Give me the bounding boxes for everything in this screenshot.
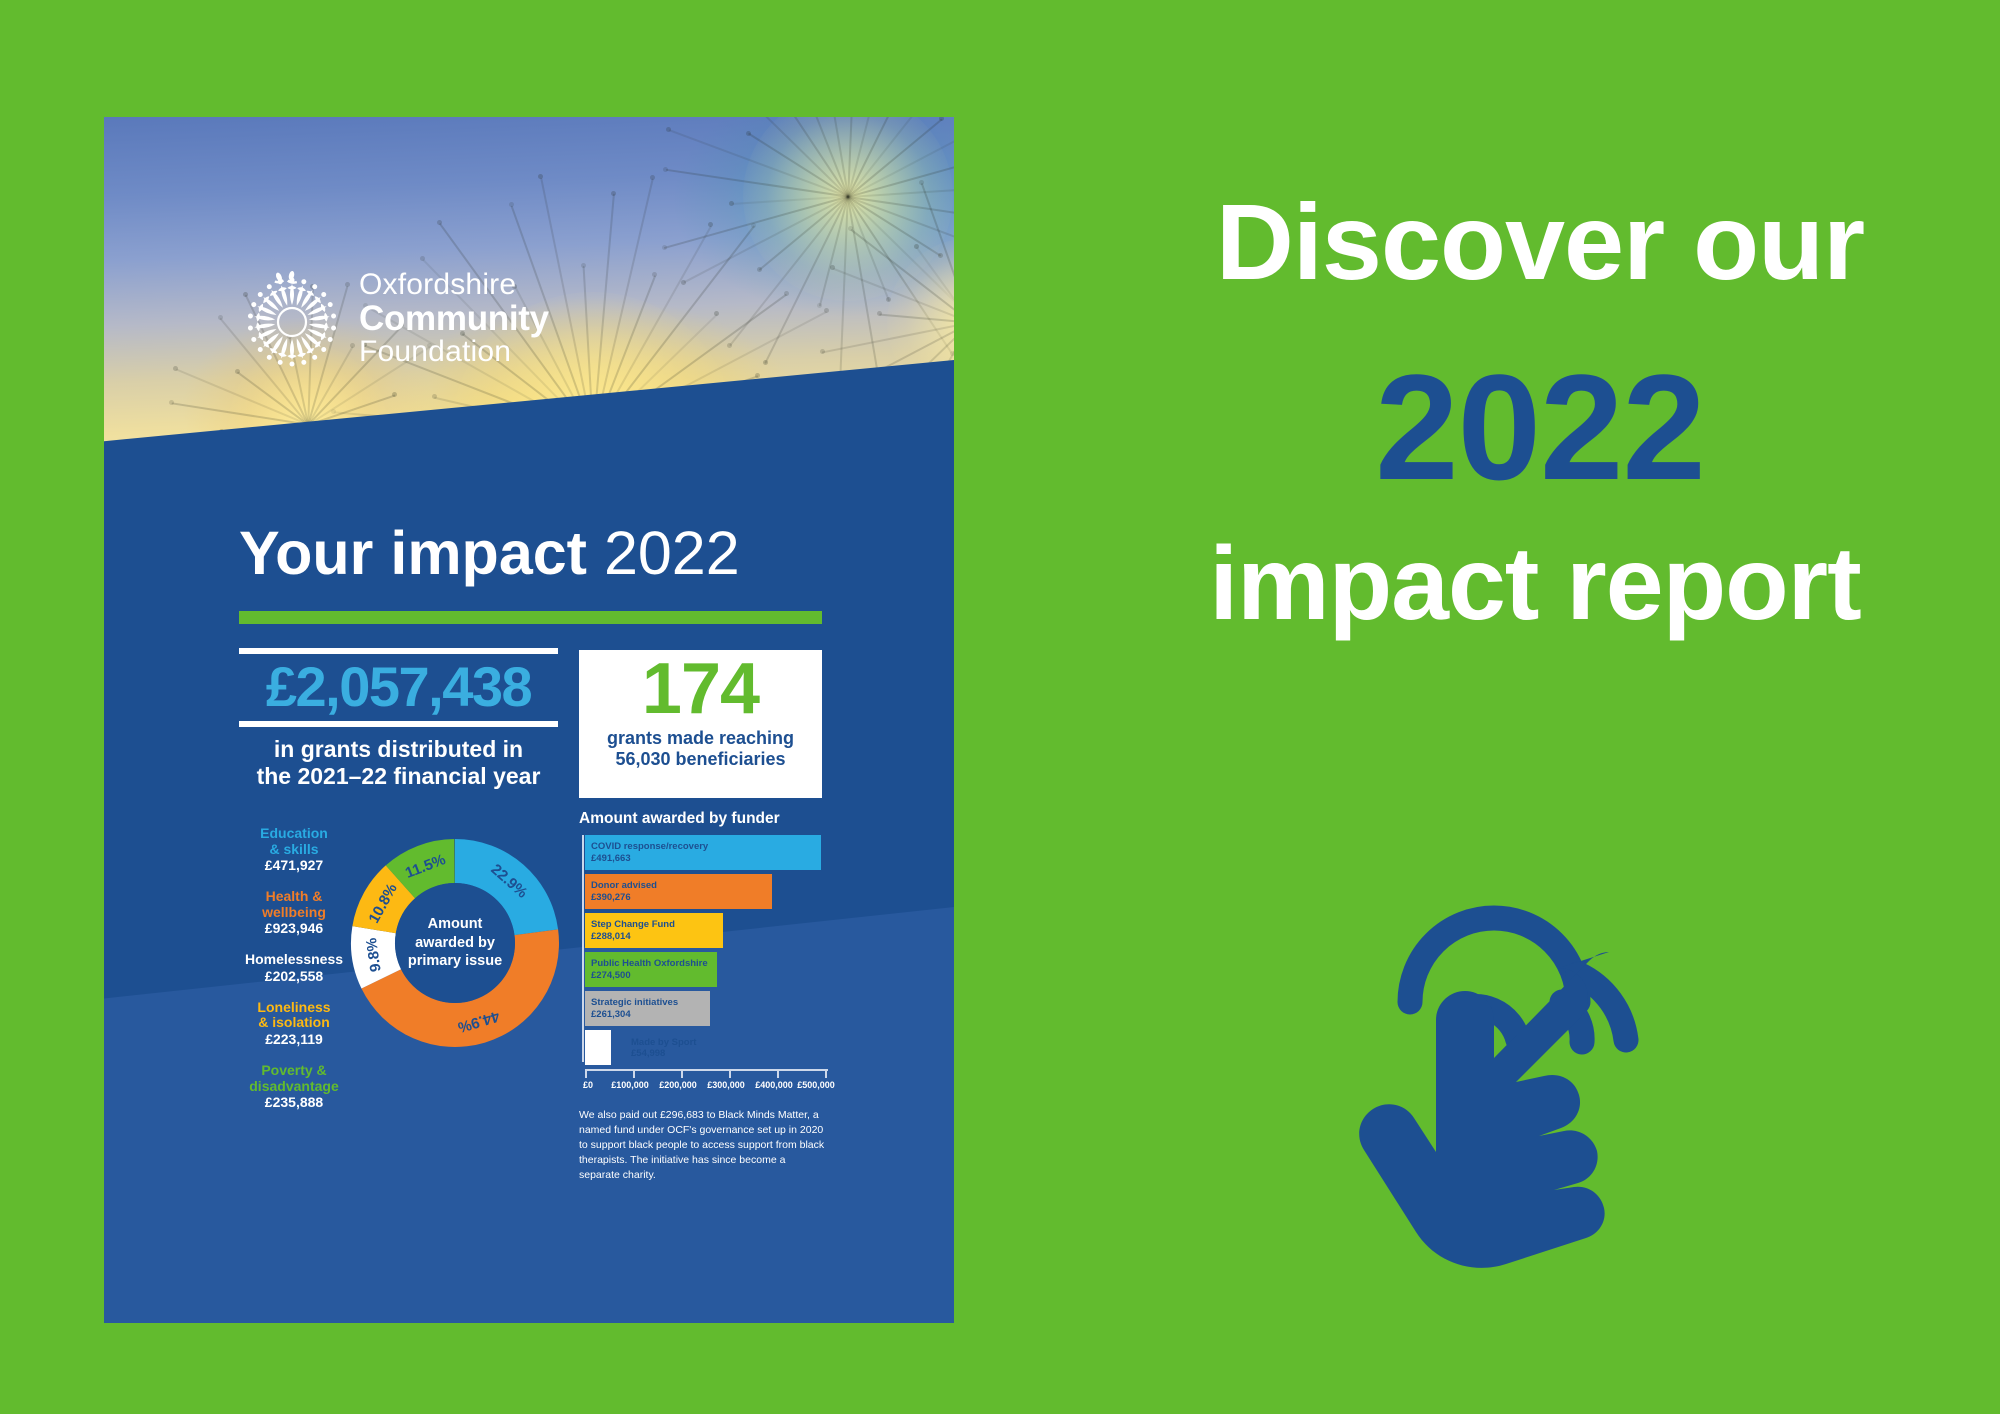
logo-line-2: Community <box>359 301 549 336</box>
funder-bar-chart: Amount awarded by funder COVID response/… <box>579 810 829 1183</box>
legend-item: Poverty &disadvantage£235,888 <box>230 1063 358 1111</box>
money-bottom-rule <box>239 721 558 727</box>
donut-center-line1: Amount <box>399 915 511 934</box>
grants-total-block: £2,057,438 in grants distributed in the … <box>239 648 558 790</box>
bar-chart-x-tick-labels: £0£100,000£200,000£300,000£400,000£500,0… <box>582 1080 829 1096</box>
donut-center-line3: primary issue <box>399 952 511 971</box>
poster-headline: Your impact 2022 <box>239 523 740 584</box>
bar-value: £274,500 <box>591 970 717 981</box>
ocf-logo-text: Oxfordshire Community Foundation <box>359 270 549 367</box>
pie-chart-legend: Education& skills£471,927Health &wellbei… <box>230 826 358 1126</box>
donut-center-line2: awarded by <box>399 934 511 953</box>
legend-amount: £235,888 <box>230 1094 358 1111</box>
bar-item: Public Health Oxfordshire£274,500 <box>585 952 717 987</box>
grants-count-caption-line2: 56,030 beneficiaries <box>579 749 822 770</box>
logo-line-3: Foundation <box>359 337 549 367</box>
cta-line-3: impact report <box>1070 532 2000 636</box>
bar-value: £390,276 <box>591 892 772 903</box>
bar-chart-title: Amount awarded by funder <box>579 810 829 828</box>
bar-label: Made by Sport <box>631 1036 696 1047</box>
legend-label-line2: disadvantage <box>230 1079 358 1095</box>
legend-label-line1: Health & <box>230 889 358 905</box>
bar-value: £491,663 <box>591 853 821 864</box>
logo-line-1: Oxfordshire <box>359 270 549 300</box>
bar-label: Strategic initiatives <box>591 997 710 1008</box>
bar-item: Donor advised£390,276 <box>585 874 772 909</box>
bar-item: Made by Sport£54,998 <box>585 1030 611 1065</box>
bar-chart-x-ticks <box>585 1069 829 1078</box>
legend-label-line1: Homelessness <box>230 952 358 968</box>
legend-amount: £223,119 <box>230 1031 358 1048</box>
legend-label-line1: Education <box>230 826 358 842</box>
legend-label-line1: Loneliness <box>230 1000 358 1016</box>
bar-text-outside: Made by Sport£54,998 <box>631 1036 696 1058</box>
bar-chart-y-axis <box>582 835 584 1062</box>
primary-issue-donut-chart: 22.9%44.9%9.8%10.8%11.5% Amount awarded … <box>342 830 568 1056</box>
bar-chart-x-axis <box>585 1069 828 1071</box>
x-tick-label: £100,000 <box>611 1080 649 1090</box>
legend-item: Health &wellbeing£923,946 <box>230 889 358 937</box>
bar-item: COVID response/recovery£491,663 <box>585 835 821 870</box>
donut-center-label: Amount awarded by primary issue <box>399 915 511 971</box>
x-tick-label: £300,000 <box>707 1080 745 1090</box>
poster-footnote: We also paid out £296,683 to Black Minds… <box>579 1108 827 1183</box>
grants-total-amount: £2,057,438 <box>239 654 558 721</box>
bar-label: Donor advised <box>591 880 772 891</box>
legend-item: Homelessness£202,558 <box>230 952 358 984</box>
bar-item: Step Change Fund£288,014 <box>585 913 723 948</box>
grants-count-number: 174 <box>579 654 822 725</box>
legend-amount: £471,927 <box>230 857 358 874</box>
grants-count-caption: grants made reaching 56,030 beneficiarie… <box>579 728 822 770</box>
grants-total-caption: in grants distributed in the 2021–22 fin… <box>239 736 558 790</box>
impact-report-poster-cover[interactable]: Oxfordshire Community Foundation Your im… <box>104 117 954 1323</box>
x-tick-label: £0 <box>583 1080 593 1090</box>
grants-count-box: 174 grants made reaching 56,030 benefici… <box>579 650 822 798</box>
x-tick-label: £400,000 <box>755 1080 793 1090</box>
call-to-action-panel: Discover our 2022 impact report <box>1070 0 2000 1414</box>
legend-label-line2: & skills <box>230 842 358 858</box>
bar-chart-plot: COVID response/recovery£491,663Donor adv… <box>579 835 829 1096</box>
bar-value: £261,304 <box>591 1009 710 1020</box>
bar-value: £54,998 <box>631 1048 696 1059</box>
ocf-logo: Oxfordshire Community Foundation <box>239 265 549 371</box>
tap-hand-icon[interactable] <box>1350 862 1690 1268</box>
headline-year: 2022 <box>604 519 740 587</box>
bar-label: Step Change Fund <box>591 919 723 930</box>
legend-item: Loneliness& isolation£223,119 <box>230 1000 358 1048</box>
green-rule-divider <box>239 611 822 624</box>
bar-value: £288,014 <box>591 931 723 942</box>
legend-item: Education& skills£471,927 <box>230 826 358 874</box>
cta-line-1: Discover our <box>1100 188 1980 296</box>
dandelion-people-circle-logo-icon <box>239 265 345 371</box>
headline-bold: Your impact <box>239 519 587 587</box>
legend-label-line1: Poverty & <box>230 1063 358 1079</box>
x-tick-label: £500,000 <box>797 1080 835 1090</box>
legend-amount: £202,558 <box>230 968 358 985</box>
bar-item: Strategic initiatives£261,304 <box>585 991 710 1026</box>
bar-chart-bars: COVID response/recovery£491,663Donor adv… <box>582 835 829 1065</box>
legend-label-line2: & isolation <box>230 1015 358 1031</box>
grants-count-caption-line1: grants made reaching <box>579 728 822 749</box>
grants-total-caption-line1: in grants distributed in <box>239 736 558 763</box>
bar-label: Public Health Oxfordshire <box>591 958 717 969</box>
legend-amount: £923,946 <box>230 920 358 937</box>
bar-label: COVID response/recovery <box>591 841 821 852</box>
legend-label-line2: wellbeing <box>230 905 358 921</box>
grants-total-caption-line2: the 2021–22 financial year <box>239 763 558 790</box>
cta-line-2-year: 2022 <box>1100 352 1980 502</box>
x-tick-label: £200,000 <box>659 1080 697 1090</box>
